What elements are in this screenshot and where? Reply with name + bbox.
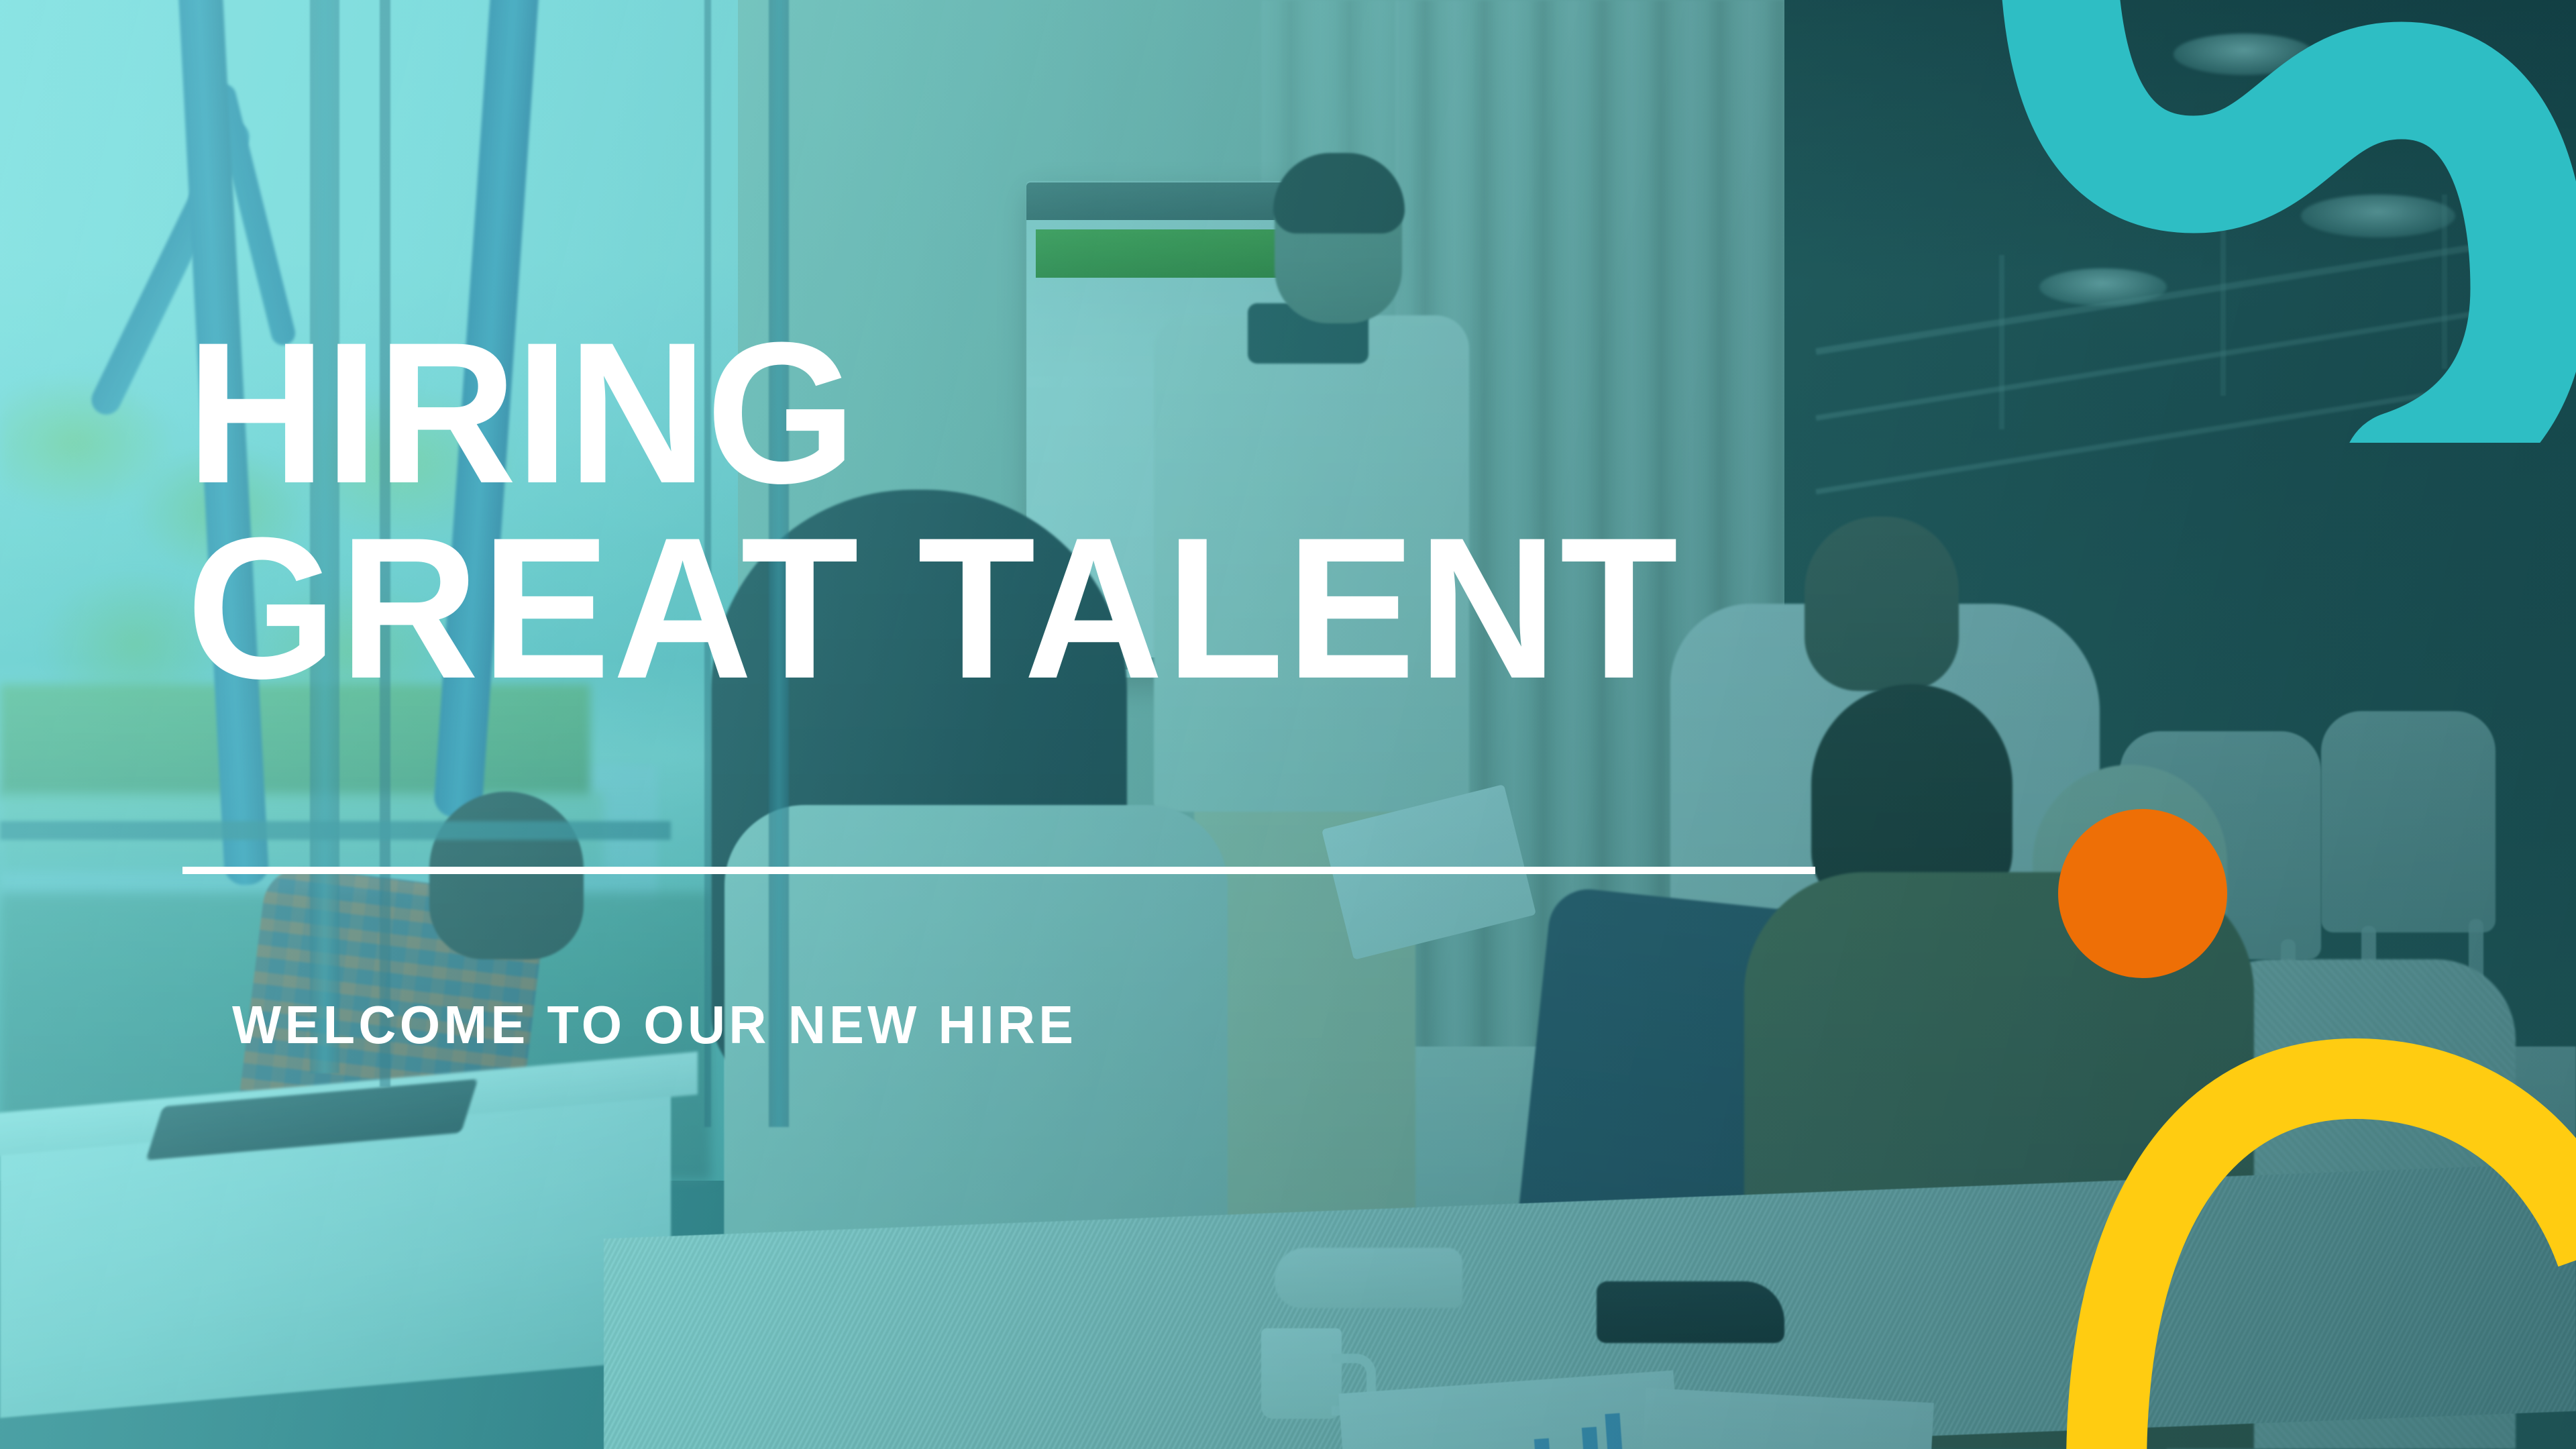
yellow-arc-decoration — [2039, 998, 2576, 1449]
headline-block: HIRING GREAT TALENT — [186, 315, 1931, 706]
divider-rule — [182, 867, 1815, 874]
orange-dot-decoration — [2058, 809, 2227, 978]
hiring-poster: HIRING GREAT TALENT WELCOME TO OUR NEW H… — [0, 0, 2576, 1449]
headline-line-2: GREAT TALENT — [186, 511, 1861, 706]
headline-line-1: HIRING — [186, 315, 1861, 511]
subtitle: WELCOME TO OUR NEW HIRE — [232, 998, 1077, 1052]
page-title: HIRING GREAT TALENT — [186, 315, 1861, 706]
teal-wave-decoration — [1972, 0, 2576, 443]
